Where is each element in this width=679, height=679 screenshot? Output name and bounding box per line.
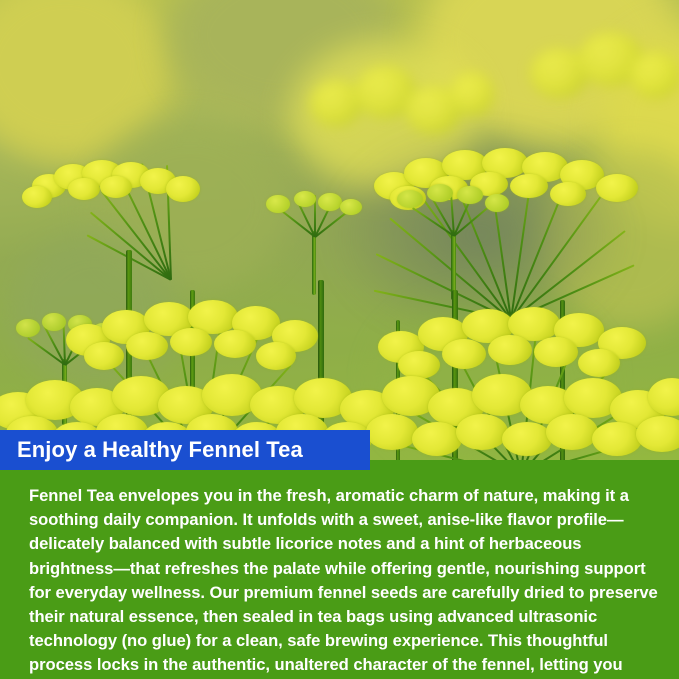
description-text: Fennel Tea envelopes you in the fresh, a… bbox=[29, 484, 669, 679]
fennel-photo bbox=[0, 0, 679, 462]
page-title: Enjoy a Healthy Fennel Tea bbox=[0, 437, 303, 463]
description-panel: Fennel Tea envelopes you in the fresh, a… bbox=[0, 460, 679, 679]
background-flower-cluster bbox=[530, 30, 679, 120]
title-banner: Enjoy a Healthy Fennel Tea bbox=[0, 430, 370, 470]
background-flower-cluster bbox=[300, 60, 490, 150]
fennel-umbel-young bbox=[395, 188, 515, 298]
fennel-umbel-young bbox=[260, 195, 370, 295]
fennel-tea-poster: Enjoy a Healthy Fennel Tea Fennel Tea en… bbox=[0, 0, 679, 679]
